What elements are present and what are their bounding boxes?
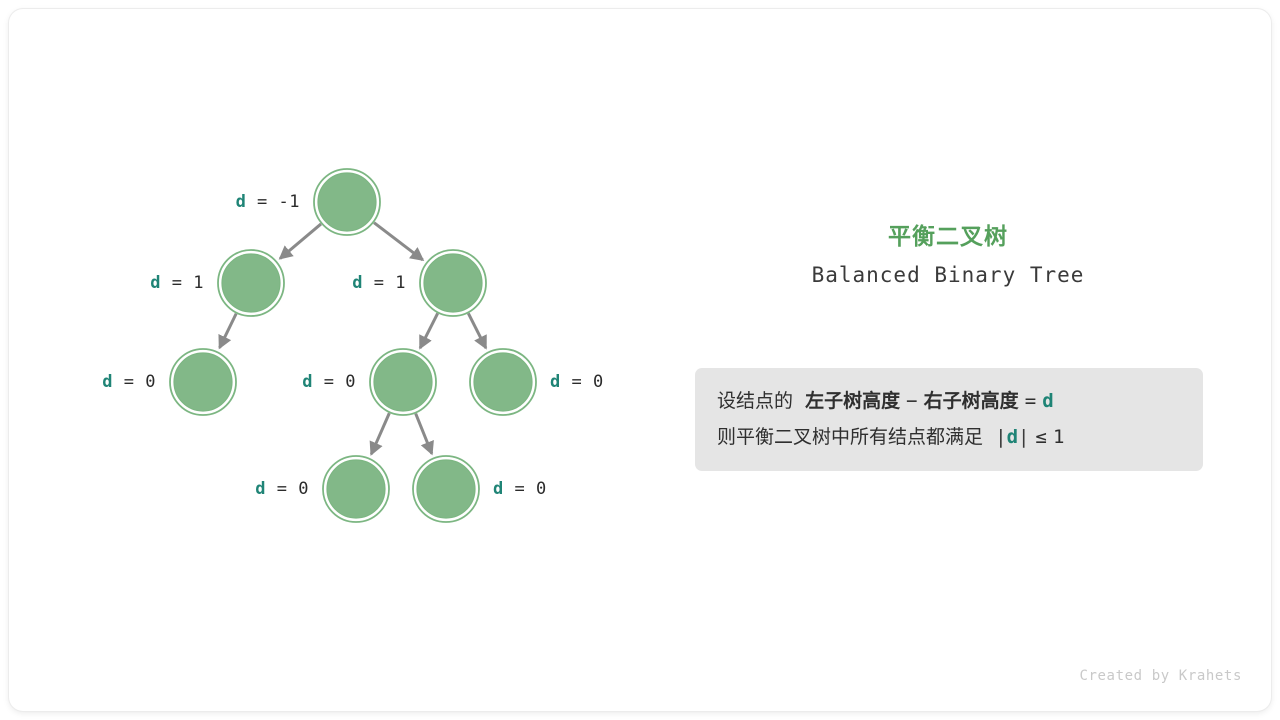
variable-d-abs: d bbox=[1007, 426, 1018, 448]
node-circle bbox=[174, 353, 232, 411]
node-label-value: = 1 bbox=[161, 273, 204, 293]
node-circle bbox=[424, 254, 482, 312]
node-circle bbox=[318, 173, 376, 231]
node-balance-label: d = 1 bbox=[352, 273, 406, 293]
node-label-value: = 0 bbox=[561, 372, 604, 392]
node-circle bbox=[417, 460, 475, 518]
tree-node[interactable] bbox=[323, 456, 389, 522]
tree-edge bbox=[220, 314, 237, 348]
node-circle bbox=[222, 254, 280, 312]
bound-value: 1 bbox=[1053, 426, 1064, 448]
tree-node[interactable] bbox=[170, 349, 236, 415]
node-balance-label: d = 0 bbox=[255, 479, 309, 499]
node-balance-label: d = 0 bbox=[102, 372, 156, 392]
node-label-variable: d bbox=[493, 479, 504, 499]
node-balance-label: d = 0 bbox=[302, 372, 356, 392]
tree-edge bbox=[420, 313, 438, 348]
node-balance-label: d = 0 bbox=[493, 479, 547, 499]
page-title: 平衡二叉树 bbox=[690, 222, 1206, 252]
node-circle bbox=[327, 460, 385, 518]
diagram-canvas: d = -1d = 1d = 1d = 0d = 0d = 0d = 0d = … bbox=[0, 0, 1280, 720]
node-balance-label: d = 0 bbox=[550, 372, 604, 392]
footer-credit: Created by Krahets bbox=[1079, 668, 1242, 684]
tree-node[interactable] bbox=[370, 349, 436, 415]
abs-bar-open: | bbox=[995, 426, 1006, 448]
node-label-variable: d bbox=[255, 479, 266, 499]
node-label-value: = 0 bbox=[504, 479, 547, 499]
node-balance-label: d = -1 bbox=[236, 192, 300, 212]
node-balance-label: d = 1 bbox=[150, 273, 204, 293]
node-label-value: = 0 bbox=[313, 372, 356, 392]
minus-operator: − bbox=[906, 390, 917, 412]
equals-operator: = bbox=[1025, 390, 1036, 412]
tree-edge bbox=[280, 224, 321, 259]
node-label-value: = -1 bbox=[246, 192, 300, 212]
node-label-variable: d bbox=[550, 372, 561, 392]
tree-edge bbox=[416, 414, 432, 454]
relation-operator: ≤ bbox=[1036, 426, 1047, 448]
tree-edge bbox=[371, 413, 389, 454]
binary-tree-graphic bbox=[0, 0, 1280, 720]
tree-edge bbox=[468, 313, 486, 348]
tree-node[interactable] bbox=[314, 169, 380, 235]
abs-bar-close: | bbox=[1018, 426, 1029, 448]
node-label-variable: d bbox=[150, 273, 161, 293]
node-label-variable: d bbox=[236, 192, 247, 212]
condition-prefix: 则平衡二叉树中所有结点都满足 bbox=[717, 426, 983, 448]
node-label-value: = 1 bbox=[363, 273, 406, 293]
node-label-value: = 0 bbox=[266, 479, 309, 499]
definition-term-right-height: 右子树高度 bbox=[924, 390, 1019, 412]
node-circle bbox=[474, 353, 532, 411]
definition-box: 设结点的 左子树高度 − 右子树高度 = d 则平衡二叉树中所有结点都满足 |d… bbox=[695, 368, 1203, 471]
definition-prefix: 设结点的 bbox=[717, 390, 793, 412]
definition-line-2: 则平衡二叉树中所有结点都满足 |d| ≤ 1 bbox=[717, 420, 1183, 454]
node-label-variable: d bbox=[102, 372, 113, 392]
node-label-variable: d bbox=[302, 372, 313, 392]
node-label-value: = 0 bbox=[113, 372, 156, 392]
definition-term-left-height: 左子树高度 bbox=[805, 390, 900, 412]
definition-line-1: 设结点的 左子树高度 − 右子树高度 = d bbox=[717, 384, 1183, 418]
tree-node[interactable] bbox=[413, 456, 479, 522]
node-label-variable: d bbox=[352, 273, 363, 293]
info-panel: 平衡二叉树 Balanced Binary Tree 设结点的 左子树高度 − … bbox=[690, 222, 1206, 288]
page-subtitle: Balanced Binary Tree bbox=[690, 262, 1206, 288]
tree-node[interactable] bbox=[218, 250, 284, 316]
node-circle bbox=[374, 353, 432, 411]
tree-edge bbox=[374, 223, 423, 260]
tree-node[interactable] bbox=[420, 250, 486, 316]
tree-node[interactable] bbox=[470, 349, 536, 415]
tree-nodes bbox=[170, 169, 536, 522]
variable-d: d bbox=[1042, 390, 1053, 412]
